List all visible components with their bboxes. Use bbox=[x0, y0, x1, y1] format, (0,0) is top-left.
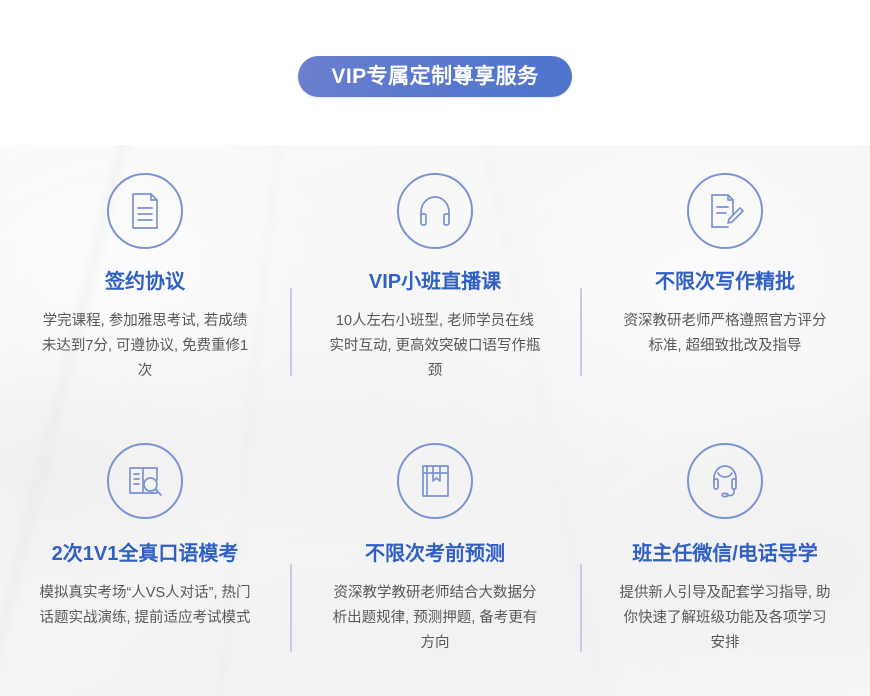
feature-description: 资深教研老师严格遵照官方评分标准, 超细致批改及指导 bbox=[619, 309, 831, 359]
feature-description: 提供新人引导及配套学习指导, 助你快速了解班级功能及各项学习安排 bbox=[619, 581, 831, 656]
feature-card-live-class[interactable]: VIP小班直播课 10人左右小班型, 老师学员在线实时互动, 更高效突破口语写作… bbox=[290, 145, 580, 421]
document-pencil-icon bbox=[687, 173, 763, 249]
book-bookmark-icon bbox=[397, 443, 473, 519]
feature-description: 学完课程, 参加雅思考试, 若成绩未达到7分, 可遵协议, 免费重修1次 bbox=[39, 309, 251, 384]
page-header: VIP专属定制尊享服务 bbox=[0, 0, 870, 145]
section-title-badge: VIP专属定制尊享服务 bbox=[298, 56, 572, 97]
feature-title: VIP小班直播课 bbox=[369, 271, 501, 293]
promo-page: VIP专属定制尊享服务 签约协议 bbox=[0, 0, 870, 696]
feature-card-mentor-support[interactable]: 班主任微信/电话导学 提供新人引导及配套学习指导, 助你快速了解班级功能及各项学… bbox=[580, 421, 870, 696]
headset-support-icon bbox=[687, 443, 763, 519]
section-title-text: VIP专属定制尊享服务 bbox=[331, 66, 538, 87]
feature-card-exam-prediction[interactable]: 不限次考前预测 资深教学教研老师结合大数据分析出题规律, 预测押题, 备考更有方… bbox=[290, 421, 580, 696]
document-icon bbox=[107, 173, 183, 249]
feature-card-speaking-mock[interactable]: 2次1V1全真口语模考 模拟真实考场“人VS人对话”, 热门话题实战演练, 提前… bbox=[0, 421, 290, 696]
feature-title: 签约协议 bbox=[105, 271, 185, 293]
feature-title: 不限次写作精批 bbox=[655, 271, 795, 293]
features-grid: 签约协议 学完课程, 参加雅思考试, 若成绩未达到7分, 可遵协议, 免费重修1… bbox=[0, 145, 870, 696]
features-panel: 签约协议 学完课程, 参加雅思考试, 若成绩未达到7分, 可遵协议, 免费重修1… bbox=[0, 145, 870, 696]
feature-card-agreement[interactable]: 签约协议 学完课程, 参加雅思考试, 若成绩未达到7分, 可遵协议, 免费重修1… bbox=[0, 145, 290, 421]
feature-card-writing-review[interactable]: 不限次写作精批 资深教研老师严格遵照官方评分标准, 超细致批改及指导 bbox=[580, 145, 870, 421]
feature-description: 资深教学教研老师结合大数据分析出题规律, 预测押题, 备考更有方向 bbox=[329, 581, 541, 656]
feature-description: 模拟真实考场“人VS人对话”, 热门话题实战演练, 提前适应考试模式 bbox=[39, 581, 251, 631]
book-magnifier-icon bbox=[107, 443, 183, 519]
feature-title: 2次1V1全真口语模考 bbox=[52, 543, 239, 565]
headphones-icon bbox=[397, 173, 473, 249]
feature-title: 班主任微信/电话导学 bbox=[632, 543, 818, 565]
feature-title: 不限次考前预测 bbox=[365, 543, 505, 565]
feature-description: 10人左右小班型, 老师学员在线实时互动, 更高效突破口语写作瓶颈 bbox=[329, 309, 541, 384]
